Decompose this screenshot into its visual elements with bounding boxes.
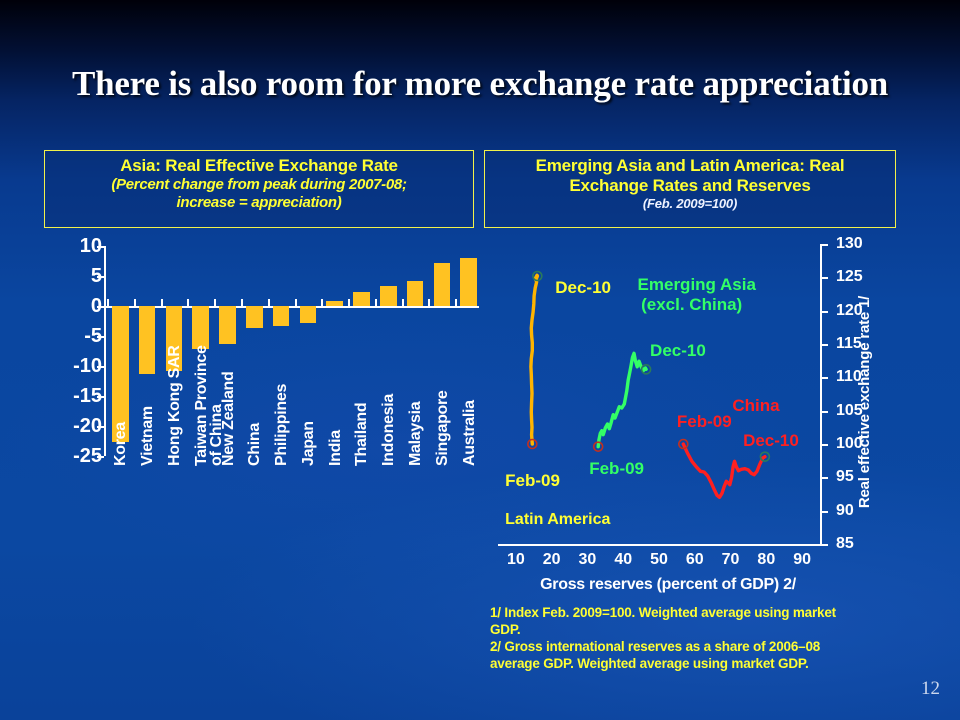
- right-chart-y-tick: [820, 477, 828, 479]
- right-chart-x-tick-label: 10: [501, 552, 531, 568]
- left-chart-x-tick: [268, 299, 270, 306]
- left-chart-y-tick: [97, 366, 104, 368]
- left-chart-y-tick: [97, 336, 104, 338]
- asia-reer-bar-chart: 1050-5-10-15-20-25 KoreaVietnamHong Kong…: [44, 236, 484, 616]
- bar: [246, 306, 263, 328]
- bar: [407, 281, 424, 306]
- footnote-2-line1: 2/ Gross international reserves as a sha…: [490, 638, 910, 655]
- left-chart-x-tick: [134, 299, 136, 306]
- right-chart-title-line3: (Feb. 2009=100): [485, 196, 895, 212]
- bar: [219, 306, 236, 344]
- series-line: [683, 444, 765, 497]
- footnote-1-line2: GDP.: [490, 621, 910, 638]
- left-chart-y-tick: [97, 396, 104, 398]
- bar: [353, 292, 370, 306]
- footnotes: 1/ Index Feb. 2009=100. Weighted average…: [490, 604, 910, 672]
- left-chart-y-tick-label: -5: [50, 326, 102, 346]
- left-chart-x-tick: [161, 299, 163, 306]
- left-chart-y-tick-label: -25: [50, 446, 102, 466]
- left-chart-y-tick: [97, 306, 104, 308]
- bar: [192, 306, 209, 349]
- right-chart-plot-area: 859095100105110115120125130 102030405060…: [498, 244, 820, 544]
- left-chart-x-tick: [428, 299, 430, 306]
- left-chart-zero-line: [104, 306, 479, 308]
- left-chart-category-label: Australia: [462, 400, 478, 466]
- right-chart-y-tick: [820, 544, 828, 546]
- left-chart-x-tick: [348, 299, 350, 306]
- page-title: There is also room for more exchange rat…: [0, 64, 960, 104]
- chart-annotation: Dec-10: [743, 432, 799, 449]
- left-chart-category-label: India: [328, 430, 344, 466]
- left-chart-y-tick-label: 5: [50, 266, 102, 286]
- right-chart-title-line1: Emerging Asia and Latin America: Real: [485, 156, 895, 176]
- chart-annotation: Dec-10: [650, 342, 706, 359]
- left-chart-x-tick: [321, 299, 323, 306]
- left-chart-title-line1: Asia: Real Effective Exchange Rate: [45, 156, 473, 176]
- right-chart-title-line2: Exchange Rates and Reserves: [485, 176, 895, 196]
- left-chart-category-label: China: [247, 423, 263, 466]
- left-chart-y-tick-label: -10: [50, 356, 102, 376]
- left-chart-y-tick: [97, 276, 104, 278]
- slide-canvas: There is also room for more exchange rat…: [0, 0, 960, 720]
- left-chart-y-tick: [97, 426, 104, 428]
- right-chart-x-tick-label: 70: [716, 552, 746, 568]
- right-chart-x-axis-line: [498, 544, 822, 546]
- right-chart-y-tick: [820, 311, 828, 313]
- left-chart-x-tick: [375, 299, 377, 306]
- left-chart-title-line3: increase = appreciation): [45, 194, 473, 212]
- left-chart-x-tick: [187, 299, 189, 306]
- right-chart-y-tick-label: 90: [836, 503, 854, 519]
- right-chart-y-tick-label: 130: [836, 236, 863, 252]
- left-chart-y-tick: [97, 456, 104, 458]
- left-chart-y-tick-label: -15: [50, 386, 102, 406]
- left-chart-y-tick-label: 10: [50, 236, 102, 256]
- left-chart-category-label: Philippines: [274, 384, 290, 466]
- right-chart-x-axis-title: Gross reserves (percent of GDP) 2/: [498, 576, 838, 594]
- left-chart-y-tick: [97, 246, 104, 248]
- left-chart-x-tick: [241, 299, 243, 306]
- reer-reserves-line-chart: 859095100105110115120125130 102030405060…: [484, 236, 896, 596]
- right-chart-y-tick: [820, 444, 828, 446]
- left-chart-y-axis-line: [104, 246, 106, 456]
- chart-annotation: Feb-09: [589, 460, 644, 477]
- left-chart-x-tick: [455, 299, 457, 306]
- left-chart-category-label: Korea: [113, 422, 129, 466]
- right-chart-y-tick-label: 95: [836, 469, 854, 485]
- left-chart-category-label: New Zealand: [221, 371, 237, 466]
- page-number: 12: [921, 678, 940, 700]
- left-chart-category-label: Malaysia: [408, 402, 424, 466]
- right-chart-y-tick-label: 85: [836, 536, 854, 552]
- chart-annotation: Feb-09: [505, 472, 560, 489]
- right-chart-y-tick: [820, 244, 828, 246]
- chart-annotation: Latin America: [505, 511, 610, 528]
- left-chart-category-label: Vietnam: [140, 406, 156, 466]
- right-chart-y-axis-line: [820, 244, 822, 544]
- right-chart-x-tick-label: 50: [644, 552, 674, 568]
- left-chart-category-label: Indonesia: [381, 394, 397, 466]
- bar: [380, 286, 397, 306]
- right-chart-y-tick: [820, 344, 828, 346]
- bar: [434, 263, 451, 306]
- chart-annotation: China: [732, 397, 779, 414]
- left-chart-y-tick-label: -20: [50, 416, 102, 436]
- bar: [273, 306, 290, 326]
- footnote-2-line2: average GDP. Weighted average using mark…: [490, 655, 910, 672]
- right-chart-y-axis-title: Real effective exchange rate 1/: [856, 252, 873, 552]
- right-chart-x-tick-label: 20: [537, 552, 567, 568]
- chart-annotation: Feb-09: [677, 413, 732, 430]
- left-chart-y-tick-label: 0: [50, 296, 102, 316]
- series-line: [598, 353, 646, 446]
- right-chart-x-tick-label: 80: [751, 552, 781, 568]
- chart-annotation: (excl. China): [641, 296, 742, 313]
- left-chart-category-label: Japan: [301, 421, 317, 466]
- right-chart-x-tick-label: 30: [572, 552, 602, 568]
- right-chart-x-tick-label: 60: [680, 552, 710, 568]
- left-chart-x-tick: [402, 299, 404, 306]
- left-chart-category-label: Thailand: [354, 403, 370, 466]
- left-chart-x-tick: [295, 299, 297, 306]
- left-chart-x-tick: [214, 299, 216, 306]
- right-chart-x-tick-label: 90: [787, 552, 817, 568]
- right-chart-y-tick: [820, 277, 828, 279]
- left-chart-title-box: Asia: Real Effective Exchange Rate (Perc…: [44, 150, 474, 228]
- left-chart-category-label: Hong Kong SAR: [167, 345, 183, 466]
- left-chart-title-line2: (Percent change from peak during 2007-08…: [45, 176, 473, 194]
- right-chart-title-box: Emerging Asia and Latin America: Real Ex…: [484, 150, 896, 228]
- left-chart-category-label: Singapore: [435, 390, 451, 466]
- series-line: [531, 275, 538, 444]
- bar: [139, 306, 156, 374]
- left-chart-x-tick: [107, 299, 109, 306]
- right-chart-y-tick: [820, 377, 828, 379]
- chart-annotation: Emerging Asia: [638, 276, 756, 293]
- bar: [300, 306, 317, 323]
- bar: [460, 258, 477, 306]
- chart-annotation: Dec-10: [555, 279, 611, 296]
- right-chart-y-tick: [820, 411, 828, 413]
- bar: [326, 301, 343, 306]
- right-chart-x-tick-label: 40: [608, 552, 638, 568]
- footnote-1-line1: 1/ Index Feb. 2009=100. Weighted average…: [490, 604, 910, 621]
- right-chart-y-tick: [820, 511, 828, 513]
